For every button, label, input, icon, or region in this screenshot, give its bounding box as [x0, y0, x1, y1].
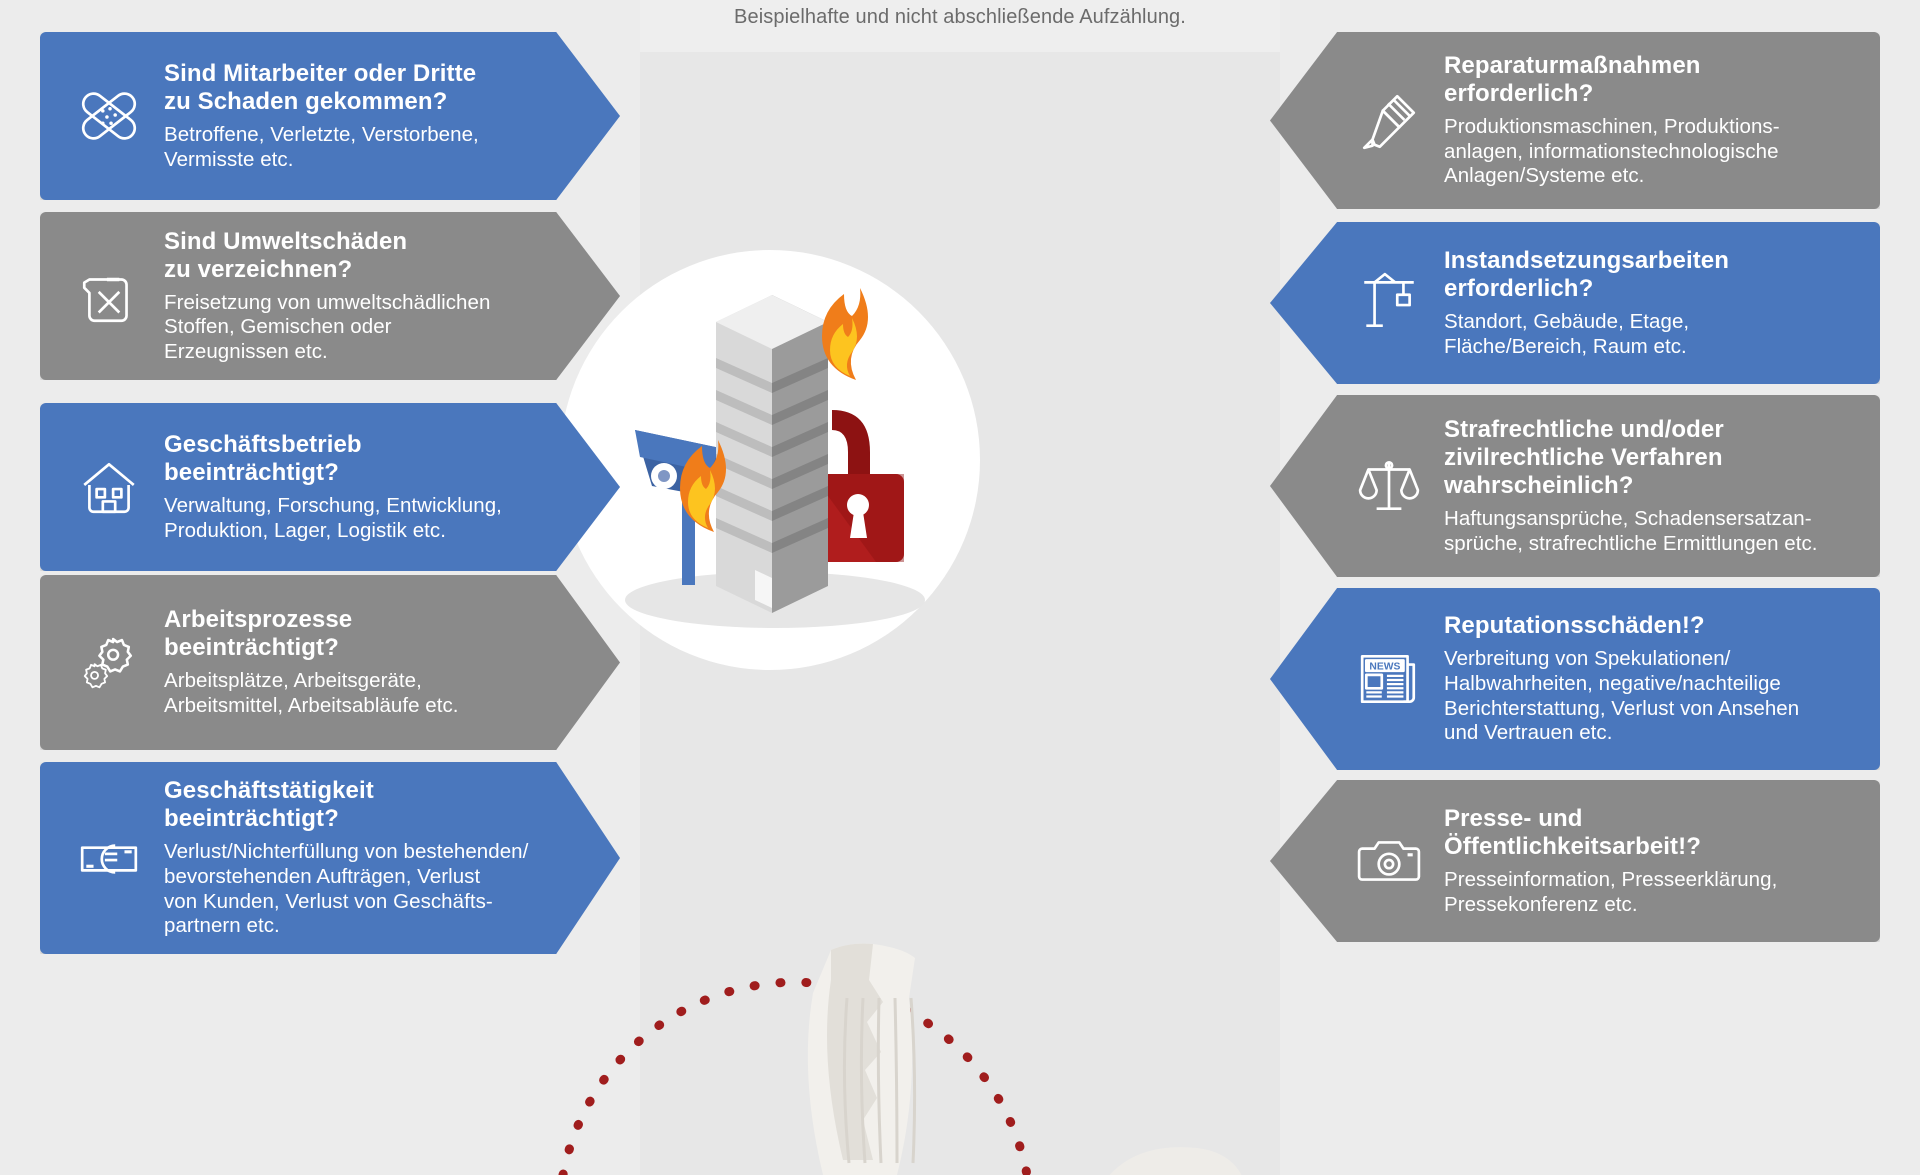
- card-title: Strafrechtliche und/oder zivilrechtliche…: [1444, 416, 1854, 500]
- page-caption: Beispielhafte und nicht abschließende Au…: [640, 6, 1280, 29]
- factory-building-icon: [70, 448, 148, 526]
- card-instandsetzungsarbeiten[interactable]: Instandsetzungsarbeiten erforderlich? St…: [1270, 222, 1880, 384]
- crane-icon: [1350, 264, 1428, 342]
- card-title: Reputationsschäden!?: [1444, 612, 1854, 640]
- card-body: Betroffene, Verletzte, Verstorbene, Verm…: [164, 123, 530, 172]
- newspaper-icon: NEWS: [1350, 640, 1428, 718]
- office-tower-icon: [716, 295, 828, 613]
- card-presse-oeffentlichkeitsarbeit[interactable]: Presse- und Öffentlichkeitsarbeit!? Pres…: [1270, 780, 1880, 942]
- card-body: Verlust/Nichterfüllung von bestehenden/ …: [164, 840, 530, 938]
- card-geschaeftstaetigkeit[interactable]: Geschäftstätigkeit beeinträchtigt? Verlu…: [40, 762, 620, 954]
- canister-icon: [70, 257, 148, 335]
- illustration-graphic: [560, 250, 1000, 710]
- card-body: Verbreitung von Spekulationen/ Halbwahrh…: [1444, 647, 1854, 745]
- card-title: Instandsetzungsarbeiten erforderlich?: [1444, 247, 1854, 303]
- card-body: Standort, Gebäude, Etage, Fläche/Bereich…: [1444, 310, 1854, 359]
- card-title: Geschäftstätigkeit beeinträchtigt?: [164, 777, 530, 833]
- infographic-canvas: Beispielhafte und nicht abschließende Au…: [0, 0, 1920, 1175]
- card-title: Reparaturmaßnahmen erforderlich?: [1444, 52, 1854, 108]
- card-body: Verwaltung, Forschung, Entwicklung, Prod…: [164, 494, 530, 543]
- card-title: Arbeitsprozesse beeinträchtigt?: [164, 606, 530, 662]
- vase-fragment-image: [1105, 1140, 1245, 1175]
- card-reparaturmassnahmen[interactable]: Reparaturmaßnahmen erforderlich? Produkt…: [1270, 32, 1880, 209]
- card-body: Produktionsmaschinen, Produktions- anlag…: [1444, 115, 1854, 189]
- camera-icon: [1350, 822, 1428, 900]
- screwdriver-icon: [1350, 82, 1428, 160]
- card-body: Haftungsansprüche, Schadensersatzan- spr…: [1444, 507, 1854, 556]
- hero-illustration: [560, 250, 1000, 710]
- card-reputationsschaeden[interactable]: NEWS Reputationsschäden!? Verbreitung vo…: [1270, 588, 1880, 770]
- card-arbeitsprozesse[interactable]: Arbeitsprozesse beeinträchtigt? Arbeitsp…: [40, 575, 620, 750]
- card-title: Sind Mitarbeiter oder Dritte zu Schaden …: [164, 60, 530, 116]
- flame-icon: [822, 288, 868, 380]
- card-title: Sind Umweltschäden zu verzeichnen?: [164, 228, 530, 284]
- svg-text:NEWS: NEWS: [1369, 662, 1400, 673]
- euro-banknote-icon: [70, 819, 148, 897]
- card-mitarbeiter-dritte[interactable]: Sind Mitarbeiter oder Dritte zu Schaden …: [40, 32, 620, 200]
- card-strafrechtliche-verfahren[interactable]: Strafrechtliche und/oder zivilrechtliche…: [1270, 395, 1880, 577]
- card-title: Geschäftsbetrieb beeinträchtigt?: [164, 431, 530, 487]
- card-title: Presse- und Öffentlichkeitsarbeit!?: [1444, 805, 1854, 861]
- broken-vase-image: [795, 940, 975, 1175]
- card-geschaeftsbetrieb[interactable]: Geschäftsbetrieb beeinträchtigt? Verwalt…: [40, 403, 620, 571]
- bandage-icon: [70, 77, 148, 155]
- gears-icon: [70, 624, 148, 702]
- card-body: Presseinformation, Presseerklärung, Pres…: [1444, 868, 1854, 917]
- card-body: Freisetzung von umweltschädlichen Stoffe…: [164, 291, 530, 365]
- card-umweltschaeden[interactable]: Sind Umweltschäden zu verzeichnen? Freis…: [40, 212, 620, 380]
- scales-of-justice-icon: [1350, 447, 1428, 525]
- card-body: Arbeitsplätze, Arbeitsgeräte, Arbeitsmit…: [164, 669, 530, 718]
